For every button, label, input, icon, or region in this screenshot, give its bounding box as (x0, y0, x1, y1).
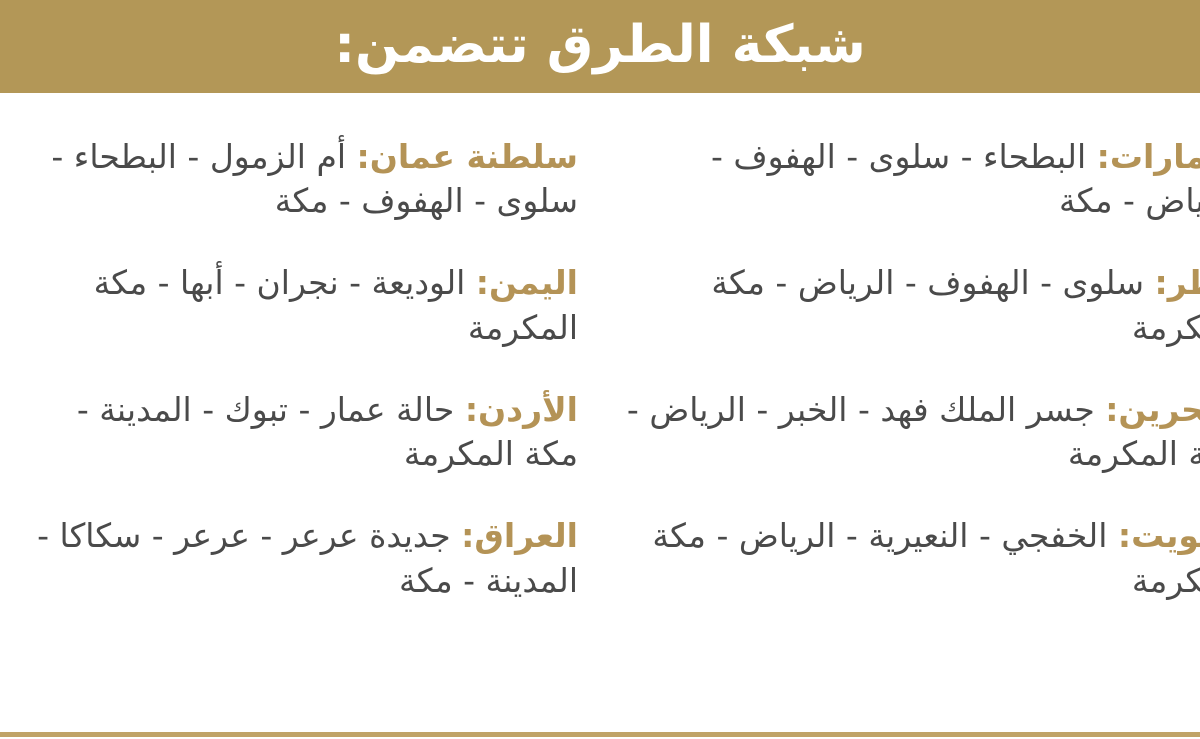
route-label-yemen: اليمن (489, 263, 578, 302)
route-label-emirates: الإمارات (1110, 137, 1200, 176)
route-entry-jordan: الأردن: حالة عمار - تبوك - المدينة - مكة… (22, 388, 578, 476)
route-colon: : (1097, 137, 1110, 176)
route-label-bahrain: البحرين (1118, 390, 1200, 429)
route-colon: : (1105, 390, 1118, 429)
routes-column-left: سلطنة عمان: أم الزمول - البطحاء - سلوى -… (0, 93, 600, 732)
route-colon: : (465, 390, 478, 429)
routes-column-right: الإمارات: البطحاء - سلوى - الهفوف - الري… (600, 93, 1200, 732)
route-entry-yemen: اليمن: الوديعة - نجران - أبها - مكة المك… (22, 261, 578, 349)
route-label-jordan: الأردن (478, 390, 578, 429)
route-entry-kuwait: الكويت: الخفجي - النعيرية - الرياض - مكة… (622, 514, 1200, 602)
route-colon: : (461, 516, 474, 555)
route-colon: : (1155, 263, 1168, 302)
route-entry-emirates: الإمارات: البطحاء - سلوى - الهفوف - الري… (622, 135, 1200, 223)
route-colon: : (1118, 516, 1131, 555)
page-title: شبكة الطرق تتضمن: (334, 18, 866, 73)
route-path-qatar: سلوى - الهفوف - الرياض - مكة المكرمة (711, 263, 1200, 346)
routes-content: الإمارات: البطحاء - سلوى - الهفوف - الري… (0, 93, 1200, 732)
route-entry-bahrain: البحرين: جسر الملك فهد - الخبر - الرياض … (622, 388, 1200, 476)
route-label-iraq: العراق (474, 516, 578, 555)
route-colon: : (476, 263, 489, 302)
route-entry-iraq: العراق: جديدة عرعر - عرعر - سكاكا - المد… (22, 514, 578, 602)
route-label-kuwait: الكويت (1131, 516, 1200, 555)
route-label-oman: سلطنة عمان (370, 137, 578, 176)
route-label-qatar: قطر (1168, 263, 1200, 302)
route-entry-qatar: قطر: سلوى - الهفوف - الرياض - مكة المكرم… (622, 261, 1200, 349)
route-entry-oman: سلطنة عمان: أم الزمول - البطحاء - سلوى -… (22, 135, 578, 223)
route-colon: : (357, 137, 370, 176)
header-band: شبكة الطرق تتضمن: (0, 0, 1200, 93)
